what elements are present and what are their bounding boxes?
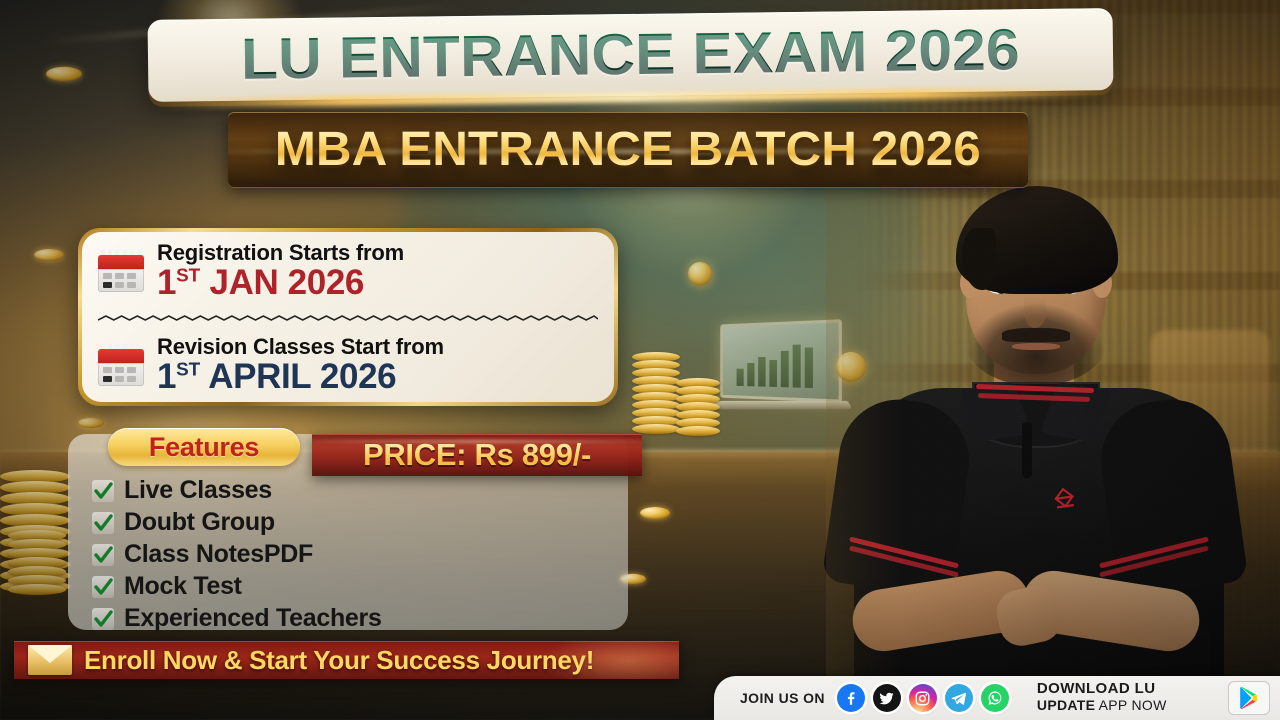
floating-coin (640, 507, 670, 519)
primary-headline-banner: LU ENTRANCE EXAM 2026 (148, 8, 1114, 102)
registration-date-row: Registration Starts from 1ST JAN 2026 (98, 242, 598, 300)
promo-poster: ⎒ LU ENTRANCE EXAM 2026 MBA ENTRANCE BAT… (0, 0, 1280, 720)
shirt-logo-icon: ⎒ (1052, 482, 1086, 514)
price-text: PRICE: Rs 899/- (363, 437, 591, 473)
download-line-1: DOWNLOAD LU (1037, 680, 1156, 697)
revision-label: Revision Classes Start from (157, 336, 444, 358)
laptop-screen (720, 319, 842, 403)
registration-label: Registration Starts from (157, 242, 404, 264)
features-badge-label: Features (149, 432, 259, 463)
secondary-headline-banner: MBA ENTRANCE BATCH 2026 (228, 112, 1028, 188)
instagram-icon[interactable] (909, 684, 937, 712)
check-icon (92, 480, 114, 502)
join-us-label: JOIN US ON (740, 690, 825, 706)
floating-coin (34, 249, 64, 261)
check-icon (92, 576, 114, 598)
wavy-divider (98, 314, 598, 323)
page-subtitle: MBA ENTRANCE BATCH 2026 (275, 126, 981, 174)
floating-coin (78, 418, 104, 428)
download-line-2: UPDATE APP NOW (1037, 697, 1167, 713)
revision-date-value: 1ST APRIL 2026 (157, 359, 444, 394)
twitter-icon[interactable] (873, 684, 901, 712)
list-item: Doubt Group (92, 508, 382, 537)
list-item: Mock Test (92, 572, 382, 601)
calendar-icon (98, 250, 144, 292)
check-icon (92, 512, 114, 534)
whatsapp-icon[interactable] (981, 684, 1009, 712)
dates-card: Registration Starts from 1ST JAN 2026 (78, 228, 618, 406)
check-icon (92, 544, 114, 566)
floating-coin (688, 262, 712, 286)
features-badge: Features (108, 428, 300, 466)
feature-label: Mock Test (124, 572, 242, 601)
check-icon (92, 608, 114, 630)
facebook-icon[interactable] (837, 684, 865, 712)
social-links (837, 684, 1009, 712)
chart-bars (737, 340, 813, 388)
enroll-cta-label: Enroll Now & Start Your Success Journey! (84, 645, 594, 676)
telegram-icon[interactable] (945, 684, 973, 712)
download-app-text: DOWNLOAD LU UPDATE APP NOW (1037, 681, 1208, 715)
registration-date-value: 1ST JAN 2026 (157, 265, 404, 300)
features-list: Live Classes Doubt Group Class NotesPDF … (92, 476, 382, 633)
google-play-icon[interactable] (1228, 681, 1270, 715)
feature-label: Class NotesPDF (124, 540, 313, 569)
enroll-cta-bar[interactable]: Enroll Now & Start Your Success Journey! (14, 641, 679, 679)
page-title: LU ENTRANCE EXAM 2026 (241, 21, 1020, 89)
list-item: Live Classes (92, 476, 382, 505)
envelope-icon (28, 645, 72, 675)
feature-label: Doubt Group (124, 508, 275, 537)
instructor-photo: ⎒ (826, 150, 1246, 720)
feature-label: Live Classes (124, 476, 272, 505)
calendar-icon (98, 344, 144, 386)
floating-coin (46, 67, 82, 81)
list-item: Class NotesPDF (92, 540, 382, 569)
list-item: Experienced Teachers (92, 604, 382, 633)
revision-date-row: Revision Classes Start from 1ST APRIL 20… (98, 336, 598, 394)
feature-label: Experienced Teachers (124, 604, 382, 633)
price-banner: PRICE: Rs 899/- (312, 434, 642, 476)
footer-bar: JOIN US ON DOWNLOAD (714, 676, 1280, 720)
